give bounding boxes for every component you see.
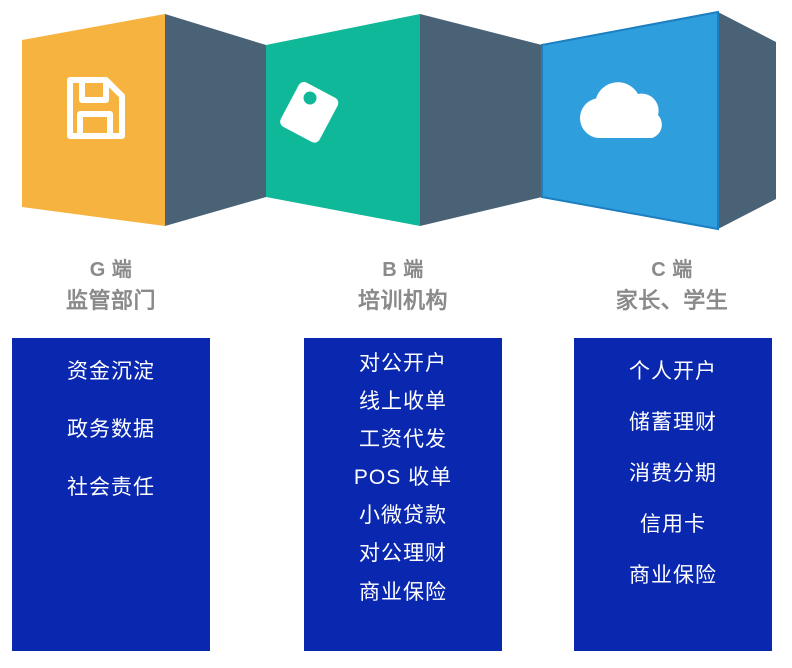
list-item: 工资代发 [359, 428, 447, 451]
panel-side-face-1 [165, 14, 266, 226]
column-code-g: G 端 [10, 258, 212, 284]
list-item: 个人开户 [629, 360, 717, 383]
column-heading-b: B 端 培训机构 [303, 258, 503, 315]
column-name-g: 监管部门 [10, 287, 212, 315]
column-heading-c: C 端 家长、学生 [572, 258, 772, 315]
list-item: 小微贷款 [359, 504, 447, 527]
column-name-b: 培训机构 [303, 287, 503, 315]
service-list-g: 资金沉淀 政务数据 社会责任 [12, 338, 210, 651]
panel-side-face-3 [718, 12, 776, 229]
infographic-canvas: G 端 监管部门 B 端 培训机构 C 端 家长、学生 资金沉淀 政务数据 社会… [0, 0, 792, 668]
list-item: 商业保险 [359, 581, 447, 604]
list-item: 政务数据 [67, 418, 155, 441]
list-item: 消费分期 [629, 462, 717, 485]
list-item: POS 收单 [354, 466, 452, 489]
list-item: 储蓄理财 [629, 411, 717, 434]
list-item: 对公理财 [359, 542, 447, 565]
list-item: 线上收单 [359, 390, 447, 413]
list-item: 社会责任 [67, 476, 155, 499]
service-list-c: 个人开户 储蓄理财 消费分期 信用卡 商业保险 [574, 338, 772, 651]
list-item: 信用卡 [640, 513, 706, 536]
list-item: 商业保险 [629, 564, 717, 587]
list-item: 资金沉淀 [67, 360, 155, 383]
list-item: 对公开户 [359, 352, 447, 375]
panel-side-face-2 [420, 14, 542, 226]
service-list-b: 对公开户 线上收单 工资代发 POS 收单 小微贷款 对公理财 商业保险 [304, 338, 502, 651]
column-name-c: 家长、学生 [572, 287, 772, 315]
folded-panels-graphic [0, 0, 792, 240]
panel-face-g [22, 14, 165, 226]
column-code-b: B 端 [303, 258, 503, 284]
column-heading-g: G 端 监管部门 [10, 258, 212, 315]
column-code-c: C 端 [572, 258, 772, 284]
